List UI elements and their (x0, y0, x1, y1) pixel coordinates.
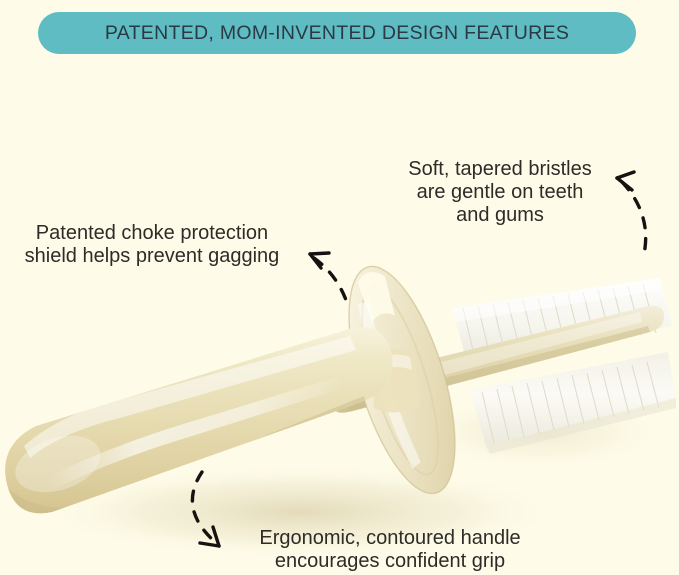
callout-handle: Ergonomic, contoured handle encourages c… (232, 527, 548, 573)
infographic-stage: PATENTED, MOM-INVENTED DESIGN FEATURES (0, 0, 679, 575)
callout-bristles: Soft, tapered bristles are gentle on tee… (384, 158, 616, 227)
page-title: PATENTED, MOM-INVENTED DESIGN FEATURES (105, 22, 569, 45)
callout-choke-shield: Patented choke protection shield helps p… (4, 222, 300, 268)
header-banner: PATENTED, MOM-INVENTED DESIGN FEATURES (38, 12, 636, 54)
product-illustration (0, 60, 679, 575)
